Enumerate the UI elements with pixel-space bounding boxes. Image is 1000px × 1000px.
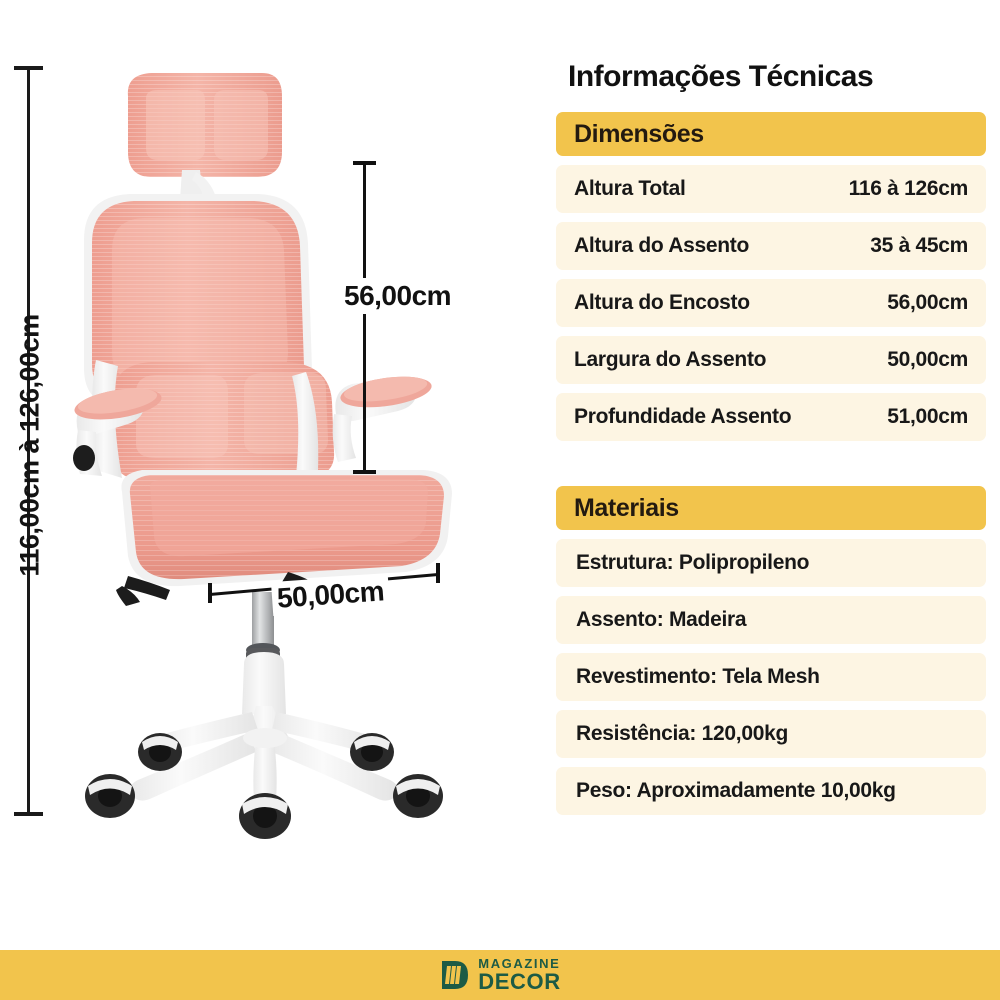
list-item: Estrutura: Polipropileno (556, 539, 986, 587)
material-text: Peso: Aproximadamente 10,00kg (576, 779, 896, 803)
chair-armrest-right (333, 372, 434, 462)
brand-d-mark-icon (439, 959, 471, 991)
material-text: Assento: Madeira (576, 608, 746, 632)
spec-label: Altura Total (574, 177, 686, 201)
table-row: Largura do Assento 50,00cm (556, 336, 986, 384)
table-row: Profundidade Assento 51,00cm (556, 393, 986, 441)
caster (350, 733, 394, 771)
materials-section-title: Materiais (574, 494, 679, 523)
caster (393, 774, 443, 818)
footer-brand-bar: MAGAZINE DECOR (0, 950, 1000, 1000)
list-item: Assento: Madeira (556, 596, 986, 644)
magazine-decor-logo: MAGAZINE DECOR (439, 957, 560, 993)
material-text: Estrutura: Polipropileno (576, 551, 809, 575)
spec-value: 56,00cm (887, 291, 968, 315)
materials-section-header: Materiais (556, 486, 986, 530)
backrest-dimension-cap-bottom (353, 470, 376, 474)
caster (138, 733, 182, 771)
seat-width-dimension-cap-right (436, 563, 440, 583)
spec-label: Altura do Encosto (574, 291, 750, 315)
table-row: Altura do Assento 35 à 45cm (556, 222, 986, 270)
list-item: Resistência: 120,00kg (556, 710, 986, 758)
brand-name-line2: DECOR (478, 971, 560, 993)
dimensions-section-title: Dimensões (574, 120, 704, 149)
table-row: Altura Total 116 à 126cm (556, 165, 986, 213)
office-chair-illustration (0, 0, 540, 950)
spec-value: 51,00cm (887, 405, 968, 429)
page-title: Informações Técnicas (568, 60, 986, 94)
dimensions-section: Dimensões Altura Total 116 à 126cm Altur… (556, 112, 986, 441)
brand-wordmark: MAGAZINE DECOR (478, 957, 560, 993)
total-height-callout: 116,00cm à 126,00cm (15, 211, 46, 681)
chair-seat (121, 470, 452, 586)
list-item: Revestimento: Tela Mesh (556, 653, 986, 701)
spec-value: 116 à 126cm (849, 177, 968, 201)
list-item: Peso: Aproximadamente 10,00kg (556, 767, 986, 815)
product-image-panel: 116,00cm à 126,00cm 56,00cm 50,00cm (0, 0, 540, 950)
product-spec-infographic: 116,00cm à 126,00cm 56,00cm 50,00cm Info… (0, 0, 1000, 1000)
material-text: Resistência: 120,00kg (576, 722, 788, 746)
backrest-dimension-line (363, 163, 366, 473)
spec-label: Profundidade Assento (574, 405, 791, 429)
spec-label: Largura do Assento (574, 348, 766, 372)
spec-label: Altura do Assento (574, 234, 749, 258)
height-dimension-cap-bottom (14, 812, 43, 816)
specifications-panel: Informações Técnicas Dimensões Altura To… (556, 60, 986, 824)
backrest-height-callout: 56,00cm (340, 278, 455, 314)
caster (85, 774, 135, 818)
spec-value: 35 à 45cm (870, 234, 968, 258)
table-row: Altura do Encosto 56,00cm (556, 279, 986, 327)
chair-headrest (128, 73, 282, 177)
spec-value: 50,00cm (887, 348, 968, 372)
dimensions-section-header: Dimensões (556, 112, 986, 156)
caster (239, 793, 291, 839)
materials-section: Materiais Estrutura: Polipropileno Assen… (556, 486, 986, 815)
material-text: Revestimento: Tela Mesh (576, 665, 820, 689)
seat-width-dimension-cap-left (208, 583, 212, 603)
